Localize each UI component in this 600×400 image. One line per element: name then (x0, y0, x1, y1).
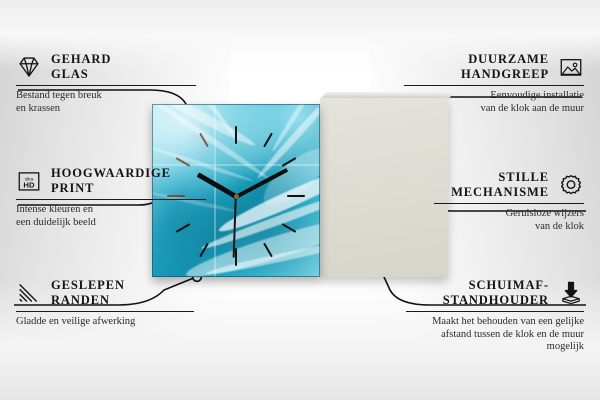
feature-title-line2: MECHANISME (451, 185, 549, 199)
feature-subtitle: Bestand tegen breuk en krassen (16, 90, 196, 115)
feature-geslepen-randen: GESLEPEN RANDEN Gladde en veilige afwerk… (16, 278, 194, 329)
feature-stille-mechanisme: STILLE MECHANISME Geruisloze wijzers van… (434, 170, 584, 233)
feature-subtitle-line1: Bestand tegen breuk (16, 90, 102, 101)
picture-frame-icon (558, 54, 584, 80)
feature-subtitle-line2: een duidelijk beeld (16, 217, 96, 228)
feature-title: GESLEPEN RANDEN (51, 278, 125, 307)
feature-title-line2: PRINT (51, 181, 94, 195)
feature-divider (16, 85, 196, 86)
feature-title-line2: STANDHOUDER (443, 293, 549, 307)
feature-header: SCHUIMAF- STANDHOUDER (406, 278, 584, 307)
feature-subtitle-line2: afstand tussen de klok en de muur mogeli… (441, 329, 584, 353)
feature-title: DUURZAME HANDGREEP (461, 52, 549, 81)
feature-divider (16, 199, 206, 200)
feature-header: GEHARD GLAS (16, 52, 196, 81)
feature-subtitle-line1: Eenvoudige installatie (490, 90, 584, 101)
feature-title: SCHUIMAF- STANDHOUDER (443, 278, 549, 307)
feature-title-line1: GESLEPEN (51, 278, 125, 292)
feature-subtitle: Eenvoudige installatie van de klok aan d… (404, 90, 584, 115)
feature-subtitle-line1: Maakt het behouden van een gelijke (432, 316, 584, 327)
feature-title-line1: DUURZAME (468, 52, 549, 66)
feature-subtitle: Intense kleuren en een duidelijk beeld (16, 204, 206, 229)
clock-back-panel (320, 98, 448, 277)
feature-title-line1: GEHARD (51, 52, 111, 66)
feature-header: DUURZAME HANDGREEP (404, 52, 584, 81)
feature-subtitle-line1: Intense kleuren en (16, 204, 93, 215)
feature-header: ultra HD HOOGWAARDIGE PRINT (16, 166, 206, 195)
feature-subtitle-line2: en krassen (16, 103, 60, 114)
feature-title: GEHARD GLAS (51, 52, 111, 81)
feature-subtitle-line2: van de klok (535, 221, 584, 232)
feature-duurzame-handgreep: DUURZAME HANDGREEP Eenvoudige installati… (404, 52, 584, 115)
feature-subtitle-line1: Gladde en veilige afwerking (16, 316, 135, 327)
feature-divider (406, 311, 584, 312)
feature-gehard-glas: GEHARD GLAS Bestand tegen breuk en krass… (16, 52, 196, 115)
feature-subtitle: Gladde en veilige afwerking (16, 316, 194, 329)
feature-header: GESLEPEN RANDEN (16, 278, 194, 307)
svg-text:HD: HD (23, 180, 35, 189)
gear-icon (558, 172, 584, 198)
feature-title-line2: GLAS (51, 67, 89, 81)
feature-title-line2: RANDEN (51, 293, 110, 307)
feature-subtitle: Geruisloze wijzers van de klok (434, 208, 584, 233)
feature-divider (404, 85, 584, 86)
feature-title-line2: HANDGREEP (461, 67, 549, 81)
feature-header: STILLE MECHANISME (434, 170, 584, 199)
feature-divider (434, 203, 584, 204)
feature-subtitle-line1: Geruisloze wijzers (506, 208, 584, 219)
feature-title-line1: STILLE (498, 170, 549, 184)
feature-divider (16, 311, 194, 312)
bevelled-edges-icon (16, 280, 42, 306)
feature-subtitle: Maakt het behouden van een gelijke afsta… (406, 316, 584, 354)
feature-subtitle-line2: van de klok aan de muur (480, 103, 584, 114)
feature-title-line1: SCHUIMAF- (469, 278, 549, 292)
spacer-stand-icon (558, 280, 584, 306)
feature-title-line1: HOOGWAARDIGE (51, 166, 171, 180)
feature-hoogwaardige-print: ultra HD HOOGWAARDIGE PRINT Intense kleu… (16, 166, 206, 229)
feature-schuimafstandhouder: SCHUIMAF- STANDHOUDER Maakt het behouden… (406, 278, 584, 354)
infographic-canvas: GEHARD GLAS Bestand tegen breuk en krass… (0, 0, 600, 400)
feature-title: HOOGWAARDIGE PRINT (51, 166, 171, 195)
ultra-hd-icon: ultra HD (16, 168, 42, 194)
diamond-icon (16, 54, 42, 80)
feature-title: STILLE MECHANISME (451, 170, 549, 199)
